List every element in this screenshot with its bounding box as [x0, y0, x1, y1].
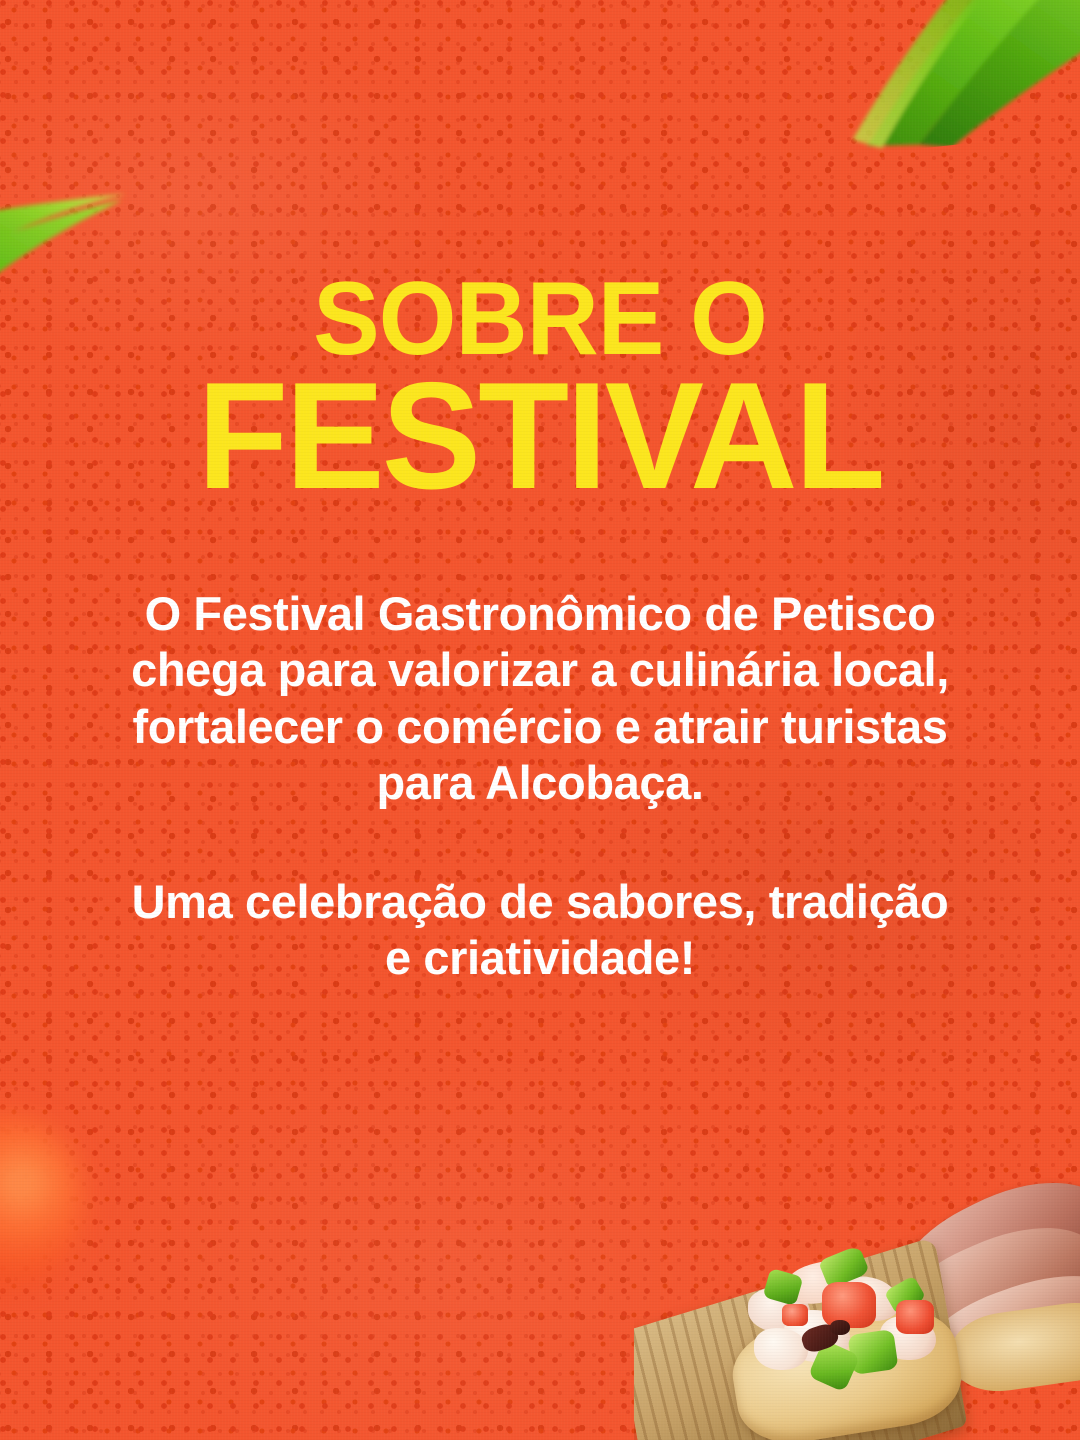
poster-canvas: SOBRE O FESTIVAL O Festival Gastronômico… — [0, 0, 1080, 1440]
body-paragraph-1: O Festival Gastronômico de Petisco chega… — [118, 586, 962, 812]
bruschetta-seafood-photo — [634, 1128, 1080, 1440]
headline-block: SOBRE O FESTIVAL — [0, 272, 1080, 503]
seafood-topping-cluster — [738, 1254, 954, 1396]
page-title-line2: FESTIVAL — [11, 370, 1069, 504]
body-copy-block: O Festival Gastronômico de Petisco chega… — [118, 586, 962, 986]
body-paragraph-2: Uma celebração de sabores, tradição e cr… — [118, 874, 962, 987]
